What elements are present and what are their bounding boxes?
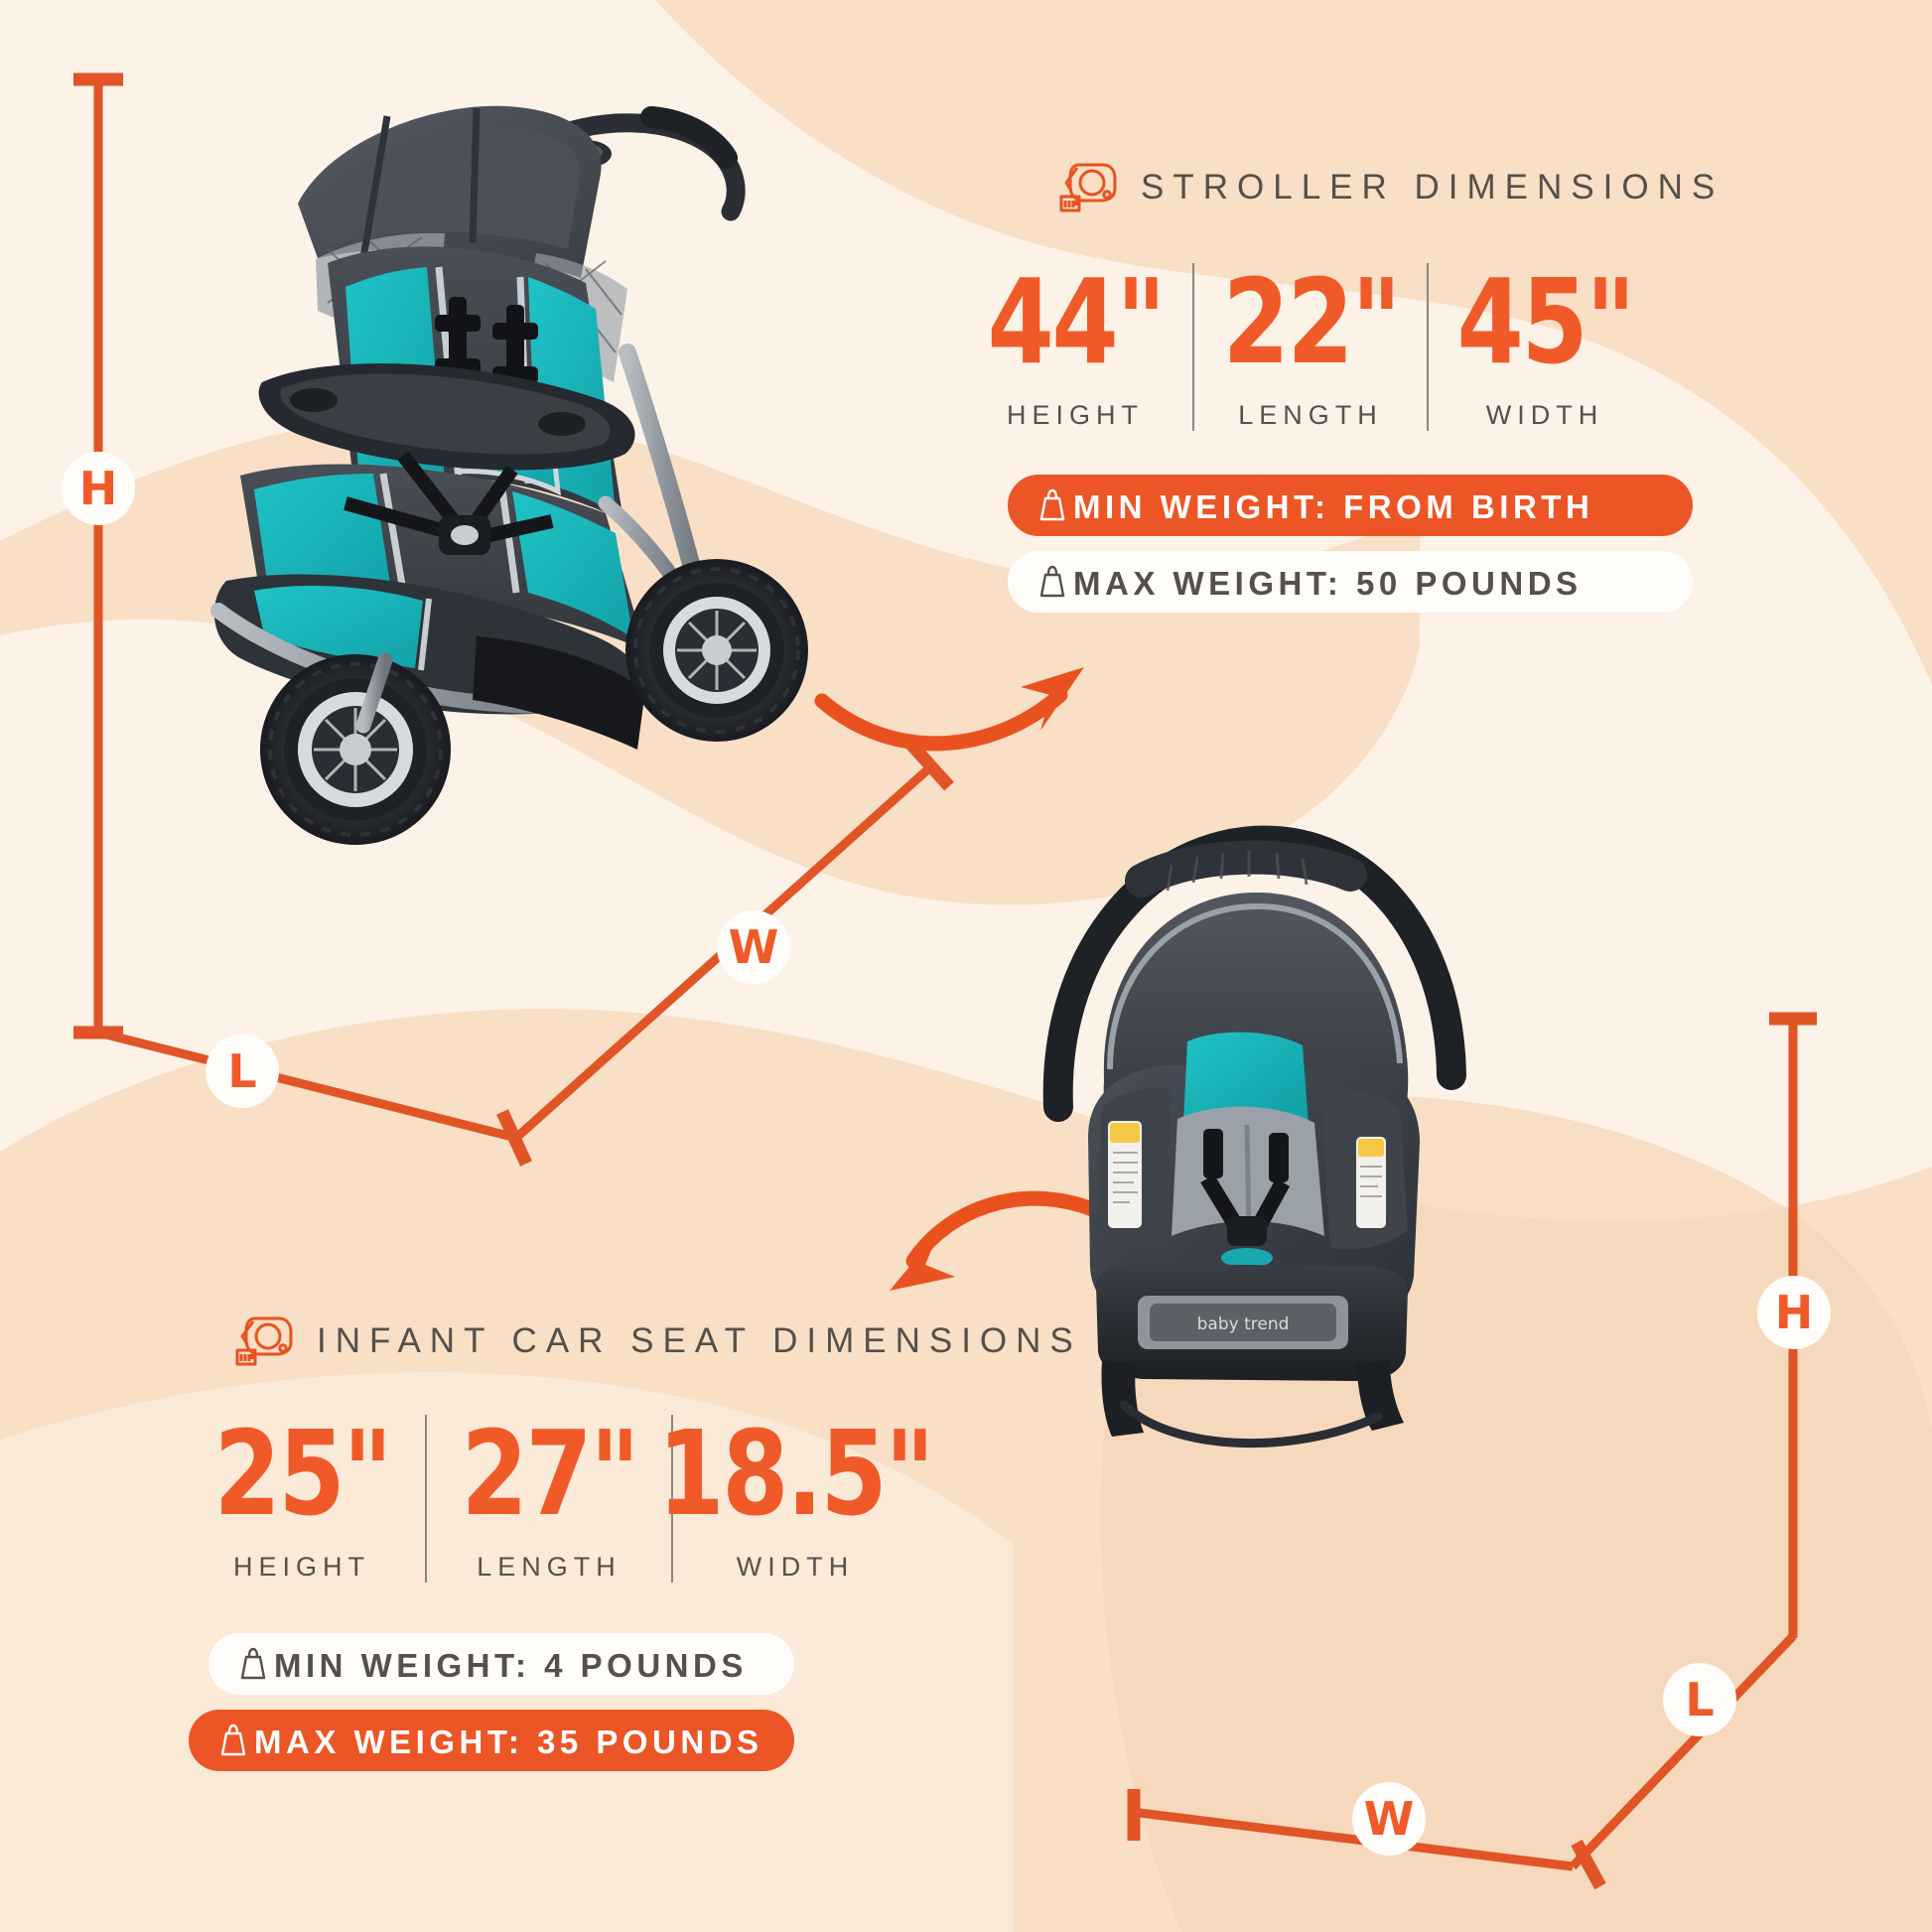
carseat-belt-hook xyxy=(1124,1405,1378,1444)
stroller-height-label: HEIGHT xyxy=(1007,400,1144,431)
weight-icon xyxy=(1037,563,1067,601)
stroller-min-weight-text: MIN WEIGHT: FROM BIRTH xyxy=(1073,490,1593,523)
stroller-product-image xyxy=(179,55,874,869)
carseat-dimensions-group: 25" HEIGHT 27" LENGTH 18.5" WIDTH xyxy=(179,1415,917,1583)
stroller-dimension-length: 22" LENGTH xyxy=(1192,263,1427,431)
tape-measure-icon xyxy=(233,1312,295,1370)
stroller-rear-wheel xyxy=(625,559,808,742)
stroller-dimension-height: 44" HEIGHT xyxy=(958,263,1192,431)
tray-cupwell-left xyxy=(290,388,338,412)
weight-icon xyxy=(218,1722,248,1759)
stroller-height-marker: H xyxy=(62,452,135,525)
canopy-panel-front xyxy=(306,126,580,249)
tape-measure-icon xyxy=(1057,159,1119,216)
carseat-max-weight-badge: MAX WEIGHT: 35 POUNDS xyxy=(189,1710,794,1771)
carseat-max-weight-text: MAX WEIGHT: 35 POUNDS xyxy=(254,1725,763,1758)
stroller-height-value: 44" xyxy=(987,263,1164,380)
carseat-header-title: INFANT CAR SEAT DIMENSIONS xyxy=(317,1321,1082,1361)
weight-icon xyxy=(238,1645,268,1683)
stroller-min-weight-badge: MIN WEIGHT: FROM BIRTH xyxy=(1008,475,1693,536)
stroller-width-marker: W xyxy=(717,910,790,984)
infographic-canvas: baby trend xyxy=(0,0,1932,1932)
carseat-height-marker: H xyxy=(1757,1276,1831,1349)
stroller-max-weight-text: MAX WEIGHT: 50 POUNDS xyxy=(1073,567,1583,600)
carseat-height-value: 25" xyxy=(213,1415,390,1532)
carseat-width-label: WIDTH xyxy=(737,1552,854,1583)
carseat-width-marker: W xyxy=(1352,1782,1426,1856)
stroller-dimension-width: 45" WIDTH xyxy=(1427,263,1661,431)
carseat-dimension-length: 27" LENGTH xyxy=(425,1415,671,1583)
carry-handle-grip xyxy=(1142,858,1350,881)
stroller-length-label: LENGTH xyxy=(1238,400,1383,431)
stroller-dimensions-group: 44" HEIGHT 22" LENGTH 45" WIDTH xyxy=(958,263,1661,431)
carseat-min-weight-text: MIN WEIGHT: 4 POUNDS xyxy=(274,1649,748,1682)
carseat-dimension-width: 18.5" WIDTH xyxy=(671,1415,917,1583)
weight-icon xyxy=(1037,486,1067,524)
stroller-handle-grip xyxy=(651,117,727,158)
stroller-front-wheel xyxy=(260,654,451,845)
stroller-width-value: 45" xyxy=(1456,263,1633,380)
stroller-width-label: WIDTH xyxy=(1486,400,1603,431)
brand-logo-text: baby trend xyxy=(1197,1314,1290,1334)
stroller-length-marker: L xyxy=(206,1035,279,1108)
carseat-width-value: 18.5" xyxy=(658,1415,933,1532)
stroller-max-weight-badge: MAX WEIGHT: 50 POUNDS xyxy=(1008,551,1693,613)
carseat-dimension-height: 25" HEIGHT xyxy=(179,1415,425,1583)
warning-label-right-top xyxy=(1358,1139,1384,1157)
stroller-length-value: 22" xyxy=(1222,263,1399,380)
carseat-section-header: INFANT CAR SEAT DIMENSIONS xyxy=(233,1312,1082,1370)
carseat-min-weight-badge: MIN WEIGHT: 4 POUNDS xyxy=(208,1633,794,1695)
stroller-header-title: STROLLER DIMENSIONS xyxy=(1141,168,1724,207)
carseat-height-label: HEIGHT xyxy=(233,1552,370,1583)
tray-cupwell-right xyxy=(538,412,586,436)
stroller-section-header: STROLLER DIMENSIONS xyxy=(1057,159,1724,216)
carseat-length-label: LENGTH xyxy=(477,1552,621,1583)
carseat-length-value: 27" xyxy=(461,1415,637,1532)
warning-label-left-top xyxy=(1110,1123,1140,1143)
canopy-rib-2 xyxy=(473,108,477,243)
carseat-length-marker: L xyxy=(1663,1663,1736,1736)
